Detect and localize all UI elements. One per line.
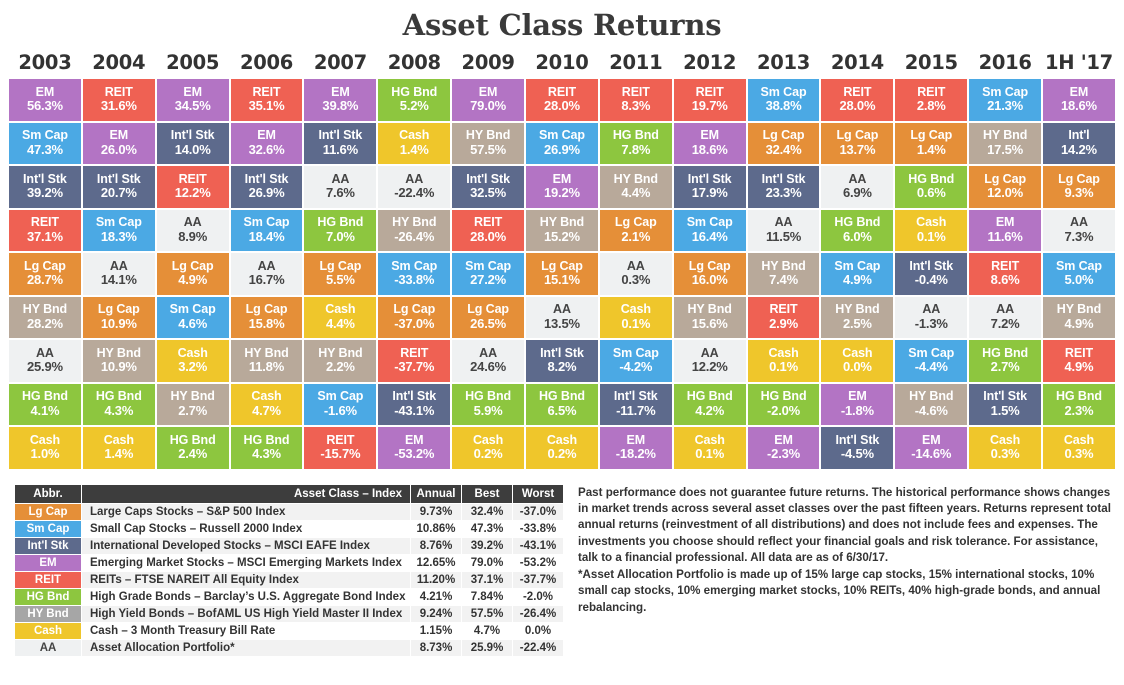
return-value: -43.1% (394, 404, 434, 418)
year-column-2007: EM39.8%Int'l Stk11.6%AA7.6%HG Bnd7.0%Lg … (303, 78, 377, 470)
asset-abbr: Int'l Stk (983, 390, 1027, 404)
year-header-2015: 2015 (894, 48, 968, 78)
asset-abbr: Sm Cap (317, 390, 363, 404)
asset-abbr: HY Bnd (835, 303, 879, 317)
legend-annual: 8.73% (411, 639, 462, 656)
asset-abbr: AA (184, 216, 202, 230)
asset-abbr: Cash (178, 347, 208, 361)
return-value: 12.2% (175, 186, 211, 200)
asset-abbr: Cash (547, 434, 577, 448)
return-cell: Int'l Stk8.2% (526, 340, 598, 382)
return-cell: REIT-15.7% (304, 427, 376, 469)
year-column-2016: Sm Cap21.3%HY Bnd17.5%Lg Cap12.0%EM11.6%… (968, 78, 1042, 470)
return-value: 7.0% (326, 230, 355, 244)
legend-best: 32.4% (462, 503, 513, 520)
asset-abbr: Sm Cap (687, 216, 733, 230)
asset-abbr: Int'l Stk (540, 347, 584, 361)
return-value: 18.4% (249, 230, 285, 244)
return-cell: Int'l Stk39.2% (9, 166, 81, 208)
return-value: 8.3% (621, 99, 650, 113)
return-value: 10.9% (101, 360, 137, 374)
return-cell: HG Bnd2.3% (1043, 384, 1115, 426)
year-header-2011: 2011 (599, 48, 673, 78)
return-cell: HG Bnd4.3% (83, 384, 155, 426)
year-header-2009: 2009 (451, 48, 525, 78)
asset-abbr: HY Bnd (540, 216, 584, 230)
return-value: -4.2% (619, 360, 652, 374)
legend-swatch: HY Bnd (15, 605, 82, 622)
asset-abbr: HY Bnd (983, 129, 1027, 143)
legend-col-header: Best (462, 484, 513, 503)
legend-annual: 8.76% (411, 537, 462, 554)
asset-abbr: AA (110, 260, 128, 274)
asset-abbr: HY Bnd (761, 260, 805, 274)
return-cell: AA8.9% (157, 210, 229, 252)
return-cell: AA0.3% (600, 253, 672, 295)
asset-abbr: HY Bnd (1057, 303, 1101, 317)
asset-abbr: EM (627, 434, 646, 448)
asset-abbr: HG Bnd (465, 390, 511, 404)
return-cell: Sm Cap18.3% (83, 210, 155, 252)
return-cell: REIT31.6% (83, 79, 155, 121)
return-cell: Cash1.4% (83, 427, 155, 469)
asset-abbr: Sm Cap (391, 260, 437, 274)
asset-abbr: REIT (1065, 347, 1093, 361)
return-value: -4.4% (915, 360, 948, 374)
return-cell: Cash4.4% (304, 297, 376, 339)
return-cell: REIT-37.7% (378, 340, 450, 382)
return-cell: Sm Cap27.2% (452, 253, 524, 295)
return-value: 20.7% (101, 186, 137, 200)
return-cell: REIT8.3% (600, 79, 672, 121)
return-value: -11.7% (616, 404, 655, 418)
asset-abbr: EM (183, 86, 202, 100)
year-column-2014: REIT28.0%Lg Cap13.7%AA6.9%HG Bnd6.0%Sm C… (820, 78, 894, 470)
return-cell: Cash0.3% (1043, 427, 1115, 469)
return-value: 7.3% (1065, 230, 1094, 244)
return-value: 38.8% (766, 99, 802, 113)
return-value: 8.9% (178, 230, 207, 244)
return-cell: AA16.7% (231, 253, 303, 295)
year-header-2007: 2007 (303, 48, 377, 78)
year-header-2004: 2004 (82, 48, 156, 78)
return-cell: HG Bnd7.8% (600, 123, 672, 165)
return-value: 56.3% (27, 99, 63, 113)
asset-abbr: HG Bnd (908, 173, 954, 187)
legend-worst: -22.4% (513, 639, 564, 656)
year-header-2012: 2012 (673, 48, 747, 78)
return-cell: Cash0.1% (600, 297, 672, 339)
asset-abbr: Lg Cap (984, 173, 1026, 187)
asset-abbr: HG Bnd (539, 390, 585, 404)
return-value: 23.3% (766, 186, 802, 200)
return-value: 13.5% (544, 317, 580, 331)
legend-row: Lg CapLarge Caps Stocks – S&P 500 Index9… (15, 503, 564, 520)
return-value: 4.9% (843, 273, 872, 287)
return-value: 2.3% (1065, 404, 1094, 418)
asset-abbr: HG Bnd (244, 434, 290, 448)
asset-abbr: Sm Cap (244, 216, 290, 230)
return-cell: Int'l Stk-4.5% (821, 427, 893, 469)
asset-abbr: Sm Cap (613, 347, 659, 361)
return-value: 28.7% (27, 273, 63, 287)
return-value: 24.6% (470, 360, 506, 374)
return-cell: Lg Cap4.9% (157, 253, 229, 295)
asset-abbr: Sm Cap (539, 129, 585, 143)
return-value: 34.5% (175, 99, 211, 113)
return-value: 32.5% (470, 186, 506, 200)
asset-abbr: AA (36, 347, 54, 361)
return-value: 4.9% (1065, 360, 1094, 374)
asset-abbr: HG Bnd (982, 347, 1028, 361)
return-cell: HG Bnd4.1% (9, 384, 81, 426)
asset-abbr: Int'l Stk (171, 129, 215, 143)
return-value: -0.4% (915, 273, 948, 287)
legend-annual: 9.73% (411, 503, 462, 520)
legend-best: 57.5% (462, 605, 513, 622)
return-cell: HY Bnd15.6% (674, 297, 746, 339)
return-cell: HY Bnd-4.6% (895, 384, 967, 426)
legend-table: Abbr.Asset Class – IndexAnnualBestWorst … (14, 484, 564, 657)
return-cell: Int'l Stk26.9% (231, 166, 303, 208)
return-cell: Int'l Stk11.6% (304, 123, 376, 165)
asset-abbr: Int'l Stk (466, 173, 510, 187)
return-cell: AA12.2% (674, 340, 746, 382)
legend-annual: 12.65% (411, 554, 462, 571)
return-value: 0.0% (843, 360, 872, 374)
legend-annual: 1.15% (411, 622, 462, 639)
return-value: 11.5% (766, 230, 801, 244)
year-header-2010: 2010 (525, 48, 599, 78)
return-cell: HY Bnd-26.4% (378, 210, 450, 252)
legend-swatch: AA (15, 639, 82, 656)
return-cell: AA14.1% (83, 253, 155, 295)
return-value: 0.3% (991, 447, 1020, 461)
legend-worst: -37.0% (513, 503, 564, 520)
asset-abbr: Cash (30, 434, 60, 448)
return-cell: EM18.6% (674, 123, 746, 165)
year-column-2005: EM34.5%Int'l Stk14.0%REIT12.2%AA8.9%Lg C… (156, 78, 230, 470)
asset-abbr: HY Bnd (466, 129, 510, 143)
return-cell: EM39.8% (304, 79, 376, 121)
return-cell: Lg Cap-37.0% (378, 297, 450, 339)
return-value: 17.9% (692, 186, 728, 200)
return-value: 26.9% (249, 186, 285, 200)
asset-abbr: Lg Cap (319, 260, 361, 274)
asset-abbr: Cash (473, 434, 503, 448)
legend-best: 39.2% (462, 537, 513, 554)
return-cell: Lg Cap15.8% (231, 297, 303, 339)
return-cell: Cash0.1% (748, 340, 820, 382)
year-column-1H17: EM18.6%Int'l14.2%Lg Cap9.3%AA7.3%Sm Cap5… (1042, 78, 1116, 470)
return-cell: HG Bnd7.0% (304, 210, 376, 252)
asset-abbr: Sm Cap (170, 303, 216, 317)
return-cell: Int'l Stk32.5% (452, 166, 524, 208)
asset-abbr: Sm Cap (982, 86, 1028, 100)
asset-abbr: HG Bnd (96, 390, 142, 404)
asset-abbr: Int'l Stk (762, 173, 806, 187)
year-column-2008: HG Bnd5.2%Cash1.4%AA-22.4%HY Bnd-26.4%Sm… (377, 78, 451, 470)
asset-abbr: Int'l Stk (97, 173, 141, 187)
legend-worst: -43.1% (513, 537, 564, 554)
return-value: 2.5% (843, 317, 872, 331)
return-value: 35.1% (249, 99, 285, 113)
asset-abbr: Lg Cap (98, 303, 140, 317)
return-value: 11.6% (988, 230, 1023, 244)
return-cell: Cash3.2% (157, 340, 229, 382)
asset-abbr: Int'l Stk (688, 173, 732, 187)
year-header-2006: 2006 (230, 48, 304, 78)
return-value: 28.0% (470, 230, 506, 244)
return-cell: Lg Cap5.5% (304, 253, 376, 295)
return-cell: HY Bnd2.2% (304, 340, 376, 382)
legend-best: 47.3% (462, 520, 513, 537)
return-cell: EM-53.2% (378, 427, 450, 469)
return-cell: Lg Cap16.0% (674, 253, 746, 295)
year-header-2013: 2013 (747, 48, 821, 78)
return-value: -22.4% (394, 186, 434, 200)
asset-abbr: EM (700, 129, 719, 143)
return-cell: Sm Cap5.0% (1043, 253, 1115, 295)
return-cell: EM56.3% (9, 79, 81, 121)
return-cell: HG Bnd6.5% (526, 384, 598, 426)
asset-abbr: Lg Cap (615, 216, 657, 230)
return-cell: AA7.6% (304, 166, 376, 208)
return-value: 16.7% (249, 273, 285, 287)
asset-abbr: Int'l Stk (836, 434, 880, 448)
legend-description: Emerging Market Stocks – MSCI Emerging M… (82, 554, 411, 571)
return-cell: EM19.2% (526, 166, 598, 208)
asset-abbr: Int'l Stk (245, 173, 289, 187)
legend-worst: -26.4% (513, 605, 564, 622)
asset-abbr: Int'l Stk (909, 260, 953, 274)
asset-abbr: HG Bnd (761, 390, 807, 404)
asset-abbr: EM (331, 86, 350, 100)
return-value: 28.2% (27, 317, 63, 331)
return-value: 2.1% (621, 230, 650, 244)
legend-swatch: Sm Cap (15, 520, 82, 537)
asset-abbr: Lg Cap (172, 260, 214, 274)
legend-description: Small Cap Stocks – Russell 2000 Index (82, 520, 411, 537)
return-cell: AA11.5% (748, 210, 820, 252)
asset-abbr: Lg Cap (763, 129, 805, 143)
return-value: 31.6% (101, 99, 137, 113)
asset-abbr: AA (996, 303, 1014, 317)
legend-best: 79.0% (462, 554, 513, 571)
return-cell: HY Bnd2.5% (821, 297, 893, 339)
return-cell: Int'l Stk20.7% (83, 166, 155, 208)
asset-abbr: Cash (990, 434, 1020, 448)
legend-swatch: EM (15, 554, 82, 571)
asset-abbr: Lg Cap (246, 303, 288, 317)
return-cell: AA7.2% (969, 297, 1041, 339)
legend-row: HG BndHigh Grade Bonds – Barclay’s U.S. … (15, 588, 564, 605)
asset-abbr: AA (701, 347, 719, 361)
disclaimer-paragraph-2: *Asset Allocation Portfolio is made up o… (578, 567, 1114, 616)
asset-abbr: REIT (769, 303, 797, 317)
return-cell: Cash0.2% (452, 427, 524, 469)
return-value: -1.3% (915, 317, 948, 331)
return-cell: Lg Cap1.4% (895, 123, 967, 165)
return-cell: REIT12.2% (157, 166, 229, 208)
return-cell: REIT2.8% (895, 79, 967, 121)
asset-abbr: Lg Cap (393, 303, 435, 317)
return-value: -14.6% (911, 447, 951, 461)
return-value: 79.0% (470, 99, 506, 113)
return-value: 14.0% (175, 143, 211, 157)
return-cell: Cash1.0% (9, 427, 81, 469)
return-cell: HY Bnd4.9% (1043, 297, 1115, 339)
asset-abbr: Lg Cap (541, 260, 583, 274)
legend-worst: -37.7% (513, 571, 564, 588)
return-cell: Sm Cap4.9% (821, 253, 893, 295)
return-cell: HG Bnd0.6% (895, 166, 967, 208)
return-cell: HY Bnd11.8% (231, 340, 303, 382)
return-value: 0.1% (621, 317, 650, 331)
return-value: 2.4% (178, 447, 207, 461)
return-cell: Cash4.7% (231, 384, 303, 426)
return-cell: Lg Cap15.1% (526, 253, 598, 295)
return-value: 1.0% (31, 447, 60, 461)
return-cell: REIT28.0% (452, 210, 524, 252)
legend-worst: -53.2% (513, 554, 564, 571)
legend-row: REITREITs – FTSE NAREIT All Equity Index… (15, 571, 564, 588)
return-cell: AA7.3% (1043, 210, 1115, 252)
legend-description: High Yield Bonds – BofAML US High Yield … (82, 605, 411, 622)
return-value: 0.3% (1065, 447, 1094, 461)
asset-abbr: EM (1070, 86, 1089, 100)
return-cell: EM26.0% (83, 123, 155, 165)
asset-abbr: Cash (1064, 434, 1094, 448)
return-cell: Lg Cap2.1% (600, 210, 672, 252)
return-value: 32.6% (249, 143, 285, 157)
return-value: 13.7% (839, 143, 875, 157)
return-value: 1.5% (991, 404, 1020, 418)
return-cell: Sm Cap38.8% (748, 79, 820, 121)
return-cell: Cash0.1% (895, 210, 967, 252)
return-value: 26.9% (544, 143, 580, 157)
return-value: -15.7% (320, 447, 360, 461)
return-value: 6.5% (548, 404, 577, 418)
return-cell: Lg Cap9.3% (1043, 166, 1115, 208)
legend-swatch: Cash (15, 622, 82, 639)
legend-worst: 0.0% (513, 622, 564, 639)
return-cell: Int'l Stk17.9% (674, 166, 746, 208)
asset-abbr: REIT (105, 86, 133, 100)
return-value: -4.6% (915, 404, 948, 418)
asset-abbr: HG Bnd (834, 216, 880, 230)
disclaimer-notes: Past performance does not guarantee futu… (578, 484, 1114, 657)
return-value: 4.7% (252, 404, 281, 418)
year-header-row: 2003200420052006200720082009201020112012… (8, 48, 1116, 78)
return-cell: HY Bnd17.5% (969, 123, 1041, 165)
asset-abbr: HG Bnd (613, 129, 659, 143)
return-cell: EM-14.6% (895, 427, 967, 469)
year-column-2015: REIT2.8%Lg Cap1.4%HG Bnd0.6%Cash0.1%Int'… (894, 78, 968, 470)
asset-abbr: EM (848, 390, 867, 404)
year-header-2008: 2008 (377, 48, 451, 78)
asset-abbr: AA (922, 303, 940, 317)
return-value: 7.4% (769, 273, 798, 287)
return-value: 14.1% (101, 273, 137, 287)
return-cell: REIT28.0% (526, 79, 598, 121)
asset-abbr: HY Bnd (244, 347, 288, 361)
asset-abbr: Lg Cap (910, 129, 952, 143)
asset-abbr: Lg Cap (837, 129, 879, 143)
asset-abbr: Sm Cap (96, 216, 142, 230)
return-cell: HY Bnd28.2% (9, 297, 81, 339)
asset-abbr: Sm Cap (465, 260, 511, 274)
legend-best: 25.9% (462, 639, 513, 656)
return-value: 4.1% (31, 404, 60, 418)
legend-row: Int'l StkInternational Developed Stocks … (15, 537, 564, 554)
return-cell: Lg Cap28.7% (9, 253, 81, 295)
asset-abbr: Lg Cap (24, 260, 66, 274)
return-value: 7.8% (621, 143, 650, 157)
asset-abbr: Sm Cap (908, 347, 954, 361)
return-value: 5.9% (474, 404, 503, 418)
asset-abbr: REIT (696, 86, 724, 100)
legend-row: CashCash – 3 Month Treasury Bill Rate1.1… (15, 622, 564, 639)
return-cell: EM11.6% (969, 210, 1041, 252)
return-value: 11.6% (323, 143, 358, 157)
asset-abbr: HG Bnd (317, 216, 363, 230)
return-cell: REIT19.7% (674, 79, 746, 121)
return-value: 25.9% (27, 360, 63, 374)
year-header-2005: 2005 (156, 48, 230, 78)
returns-matrix: 2003200420052006200720082009201020112012… (8, 48, 1116, 470)
asset-abbr: HY Bnd (23, 303, 67, 317)
asset-abbr: REIT (326, 434, 354, 448)
asset-abbr: AA (627, 260, 645, 274)
legend-header-row: Abbr.Asset Class – IndexAnnualBestWorst (15, 484, 564, 503)
return-value: 18.6% (692, 143, 728, 157)
asset-abbr: Cash (768, 347, 798, 361)
asset-abbr: Cash (695, 434, 725, 448)
return-value: 6.9% (843, 186, 872, 200)
return-cell: Lg Cap13.7% (821, 123, 893, 165)
year-header-2014: 2014 (820, 48, 894, 78)
year-column-2006: REIT35.1%EM32.6%Int'l Stk26.9%Sm Cap18.4… (230, 78, 304, 470)
asset-abbr: Lg Cap (689, 260, 731, 274)
return-cell: Lg Cap12.0% (969, 166, 1041, 208)
return-value: 16.4% (692, 230, 728, 244)
asset-abbr: REIT (622, 86, 650, 100)
asset-abbr: REIT (400, 347, 428, 361)
return-value: 12.0% (987, 186, 1023, 200)
asset-abbr: Int'l Stk (23, 173, 67, 187)
return-value: -1.6% (324, 404, 357, 418)
return-cell: Sm Cap26.9% (526, 123, 598, 165)
return-cell: REIT2.9% (748, 297, 820, 339)
return-value: -37.7% (394, 360, 434, 374)
return-cell: HY Bnd15.2% (526, 210, 598, 252)
asset-abbr: AA (775, 216, 793, 230)
year-header-1H17: 1H '17 (1042, 48, 1116, 78)
return-value: 28.0% (839, 99, 875, 113)
asset-abbr: Int'l Stk (318, 129, 362, 143)
year-column-2013: Sm Cap38.8%Lg Cap32.4%Int'l Stk23.3%AA11… (747, 78, 821, 470)
return-value: 28.0% (544, 99, 580, 113)
return-cell: REIT8.6% (969, 253, 1041, 295)
return-cell: REIT35.1% (231, 79, 303, 121)
asset-abbr: EM (479, 86, 498, 100)
return-value: -4.5% (841, 447, 874, 461)
return-value: 0.1% (769, 360, 798, 374)
return-cell: Sm Cap-33.8% (378, 253, 450, 295)
year-header-2016: 2016 (968, 48, 1042, 78)
legend-body: Lg CapLarge Caps Stocks – S&P 500 Index9… (15, 503, 564, 656)
